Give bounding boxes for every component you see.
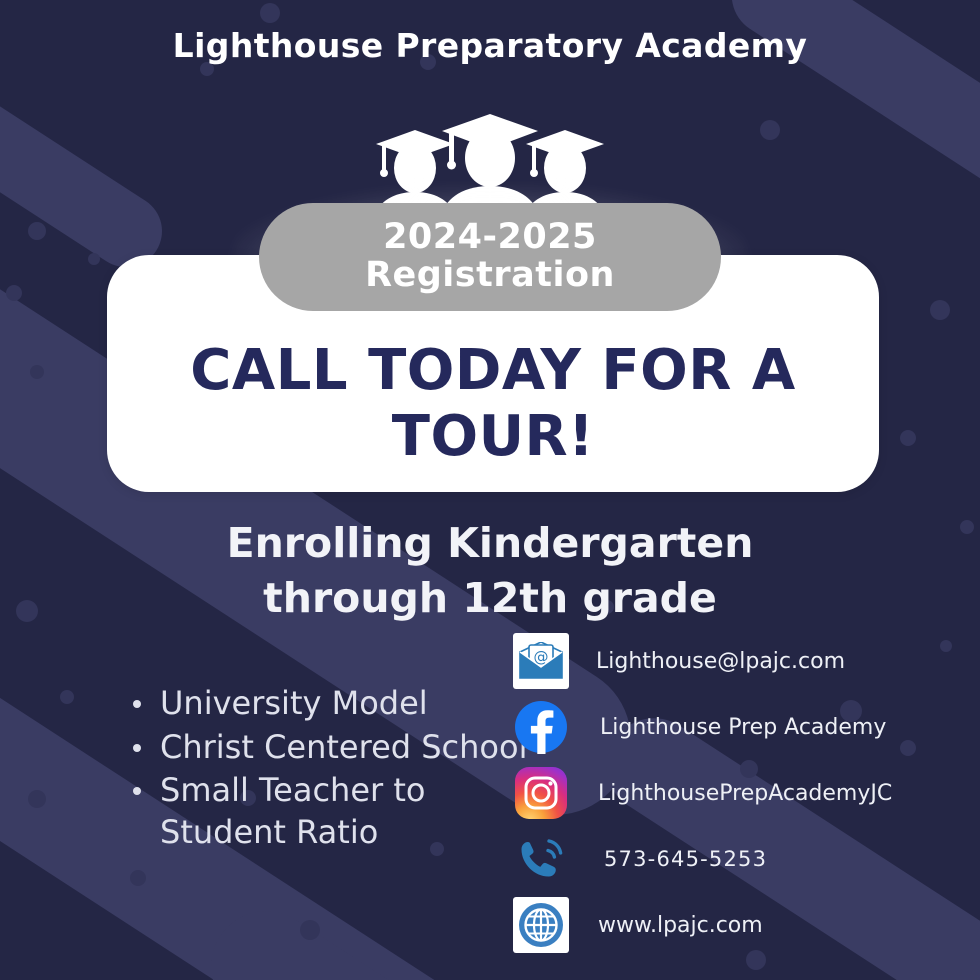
website-icon[interactable] — [512, 896, 570, 954]
decorative-dot — [28, 222, 46, 240]
flyer-poster: Lighthouse Preparatory Academy — [0, 0, 980, 980]
email-icon[interactable]: @ — [512, 632, 570, 690]
cta-headline: CALL TODAY FOR A TOUR! — [143, 338, 843, 492]
registration-year: 2024-2025 — [383, 219, 597, 257]
decorative-dot — [300, 920, 320, 940]
decorative-dot — [60, 690, 74, 704]
contact-list: @ Lighthouse@lpajc.com Lighthouse Prep A… — [512, 628, 942, 958]
contact-row-email[interactable]: @ Lighthouse@lpajc.com — [512, 628, 942, 694]
phone-icon[interactable] — [512, 830, 570, 888]
registration-badge: 2024-2025 Registration — [259, 203, 721, 311]
registration-label: Registration — [365, 257, 615, 295]
enrollment-subtitle: Enrolling Kindergarten through 12th grad… — [0, 516, 980, 625]
decorative-dot — [260, 3, 280, 23]
decorative-dot — [6, 285, 22, 301]
contact-row-website[interactable]: www.lpajc.com — [512, 892, 942, 958]
contact-facebook-label[interactable]: Lighthouse Prep Academy — [600, 715, 886, 740]
contact-phone-label[interactable]: 573-645-5253 — [604, 847, 767, 871]
features-list: University Model Christ Centered School … — [128, 683, 528, 855]
contact-email-label[interactable]: Lighthouse@lpajc.com — [596, 649, 845, 674]
decorative-dot — [30, 365, 44, 379]
decorative-dot — [900, 430, 916, 446]
decorative-dot — [28, 790, 46, 808]
instagram-icon[interactable] — [512, 764, 570, 822]
list-item: Christ Centered School — [128, 727, 528, 769]
contact-row-facebook[interactable]: Lighthouse Prep Academy — [512, 694, 942, 760]
enrollment-subtitle-line2: through 12th grade — [0, 571, 980, 626]
decorative-dot — [88, 253, 100, 265]
decorative-dot — [130, 870, 146, 886]
list-item: University Model — [128, 683, 528, 725]
facebook-icon[interactable] — [512, 698, 570, 756]
contact-row-instagram[interactable]: LighthousePrepAcademyJC — [512, 760, 942, 826]
contact-instagram-label[interactable]: LighthousePrepAcademyJC — [598, 781, 892, 806]
decorative-dot — [930, 300, 950, 320]
page-title: Lighthouse Preparatory Academy — [0, 26, 980, 65]
list-item: Small Teacher to Student Ratio — [128, 770, 528, 853]
contact-website-label[interactable]: www.lpajc.com — [598, 913, 763, 938]
contact-row-phone[interactable]: 573-645-5253 — [512, 826, 942, 892]
enrollment-subtitle-line1: Enrolling Kindergarten — [0, 516, 980, 571]
